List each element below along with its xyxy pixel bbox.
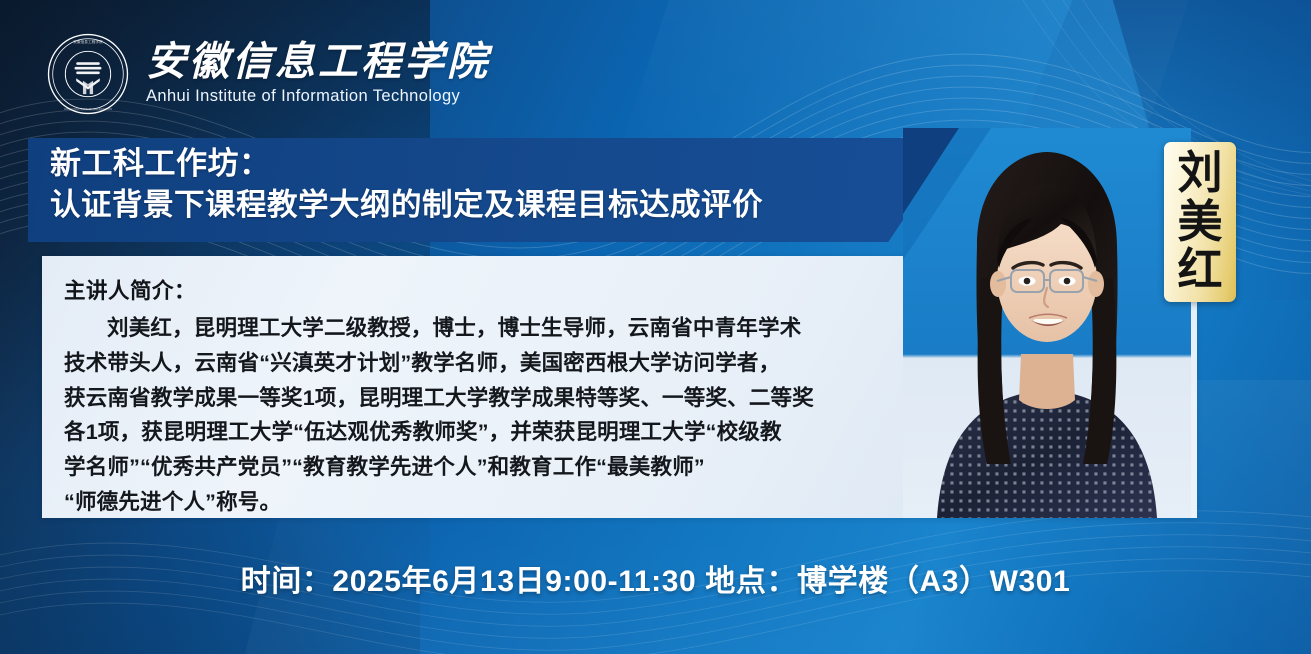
speaker-name-plate: 刘 美 红 (1164, 142, 1236, 302)
university-seal-icon: 安徽信息工程学院 ANHUI INSTITUTE OF INFORMATION (46, 32, 130, 116)
university-name-cn: 安徽信息工程学院 (146, 42, 490, 83)
name-char: 红 (1177, 247, 1222, 293)
svg-text:ANHUI INSTITUTE OF INFORMATION: ANHUI INSTITUTE OF INFORMATION (64, 107, 112, 111)
university-name-en: Anhui Institute of Information Technolog… (146, 87, 490, 106)
bio-line: 获云南省教学成果一等奖1项，昆明理工大学教学成果特等奖、一等奖、二等奖 (64, 381, 922, 416)
speaker-portrait-photo (903, 128, 1191, 518)
name-char: 美 (1177, 199, 1222, 245)
bio-line: 学名师”“优秀共产党员”“教育教学先进个人”和教育工作“最美教师” (64, 450, 922, 485)
bio-heading: 主讲人简介： (64, 274, 922, 305)
title-line-2: 认证背景下课程教学大纲的制定及课程目标达成评价 (50, 185, 930, 225)
bio-line: “师德先进个人”称号。 (64, 485, 922, 518)
bio-line: 技术带头人，云南省“兴滇英才计划”教学名师，美国密西根大学访问学者， (64, 346, 922, 381)
name-char: 刘 (1177, 150, 1222, 196)
speaker-bio-content: 主讲人简介： 刘美红，昆明理工大学二级教授，博士，博士生导师，云南省中青年学术 … (42, 256, 922, 518)
svg-text:安徽信息工程学院: 安徽信息工程学院 (73, 39, 103, 44)
event-poster: 安徽信息工程学院 ANHUI INSTITUTE OF INFORMATION … (0, 0, 1311, 654)
event-time-location: 时间：2025年6月13日9:00-11:30 地点：博学楼（A3）W301 (0, 556, 1311, 600)
wordmark: 安徽信息工程学院 Anhui Institute of Information … (146, 42, 490, 106)
poster-title: 新工科工作坊： 认证背景下课程教学大纲的制定及课程目标达成评价 (50, 144, 930, 225)
brand-header: 安徽信息工程学院 ANHUI INSTITUTE OF INFORMATION … (46, 32, 490, 116)
bio-line: 各1项，获昆明理工大学“伍达观优秀教师奖”，并荣获昆明理工大学“校级教 (64, 415, 922, 450)
bio-line: 刘美红，昆明理工大学二级教授，博士，博士生导师，云南省中青年学术 (64, 311, 922, 346)
title-line-1: 新工科工作坊： (50, 144, 930, 185)
